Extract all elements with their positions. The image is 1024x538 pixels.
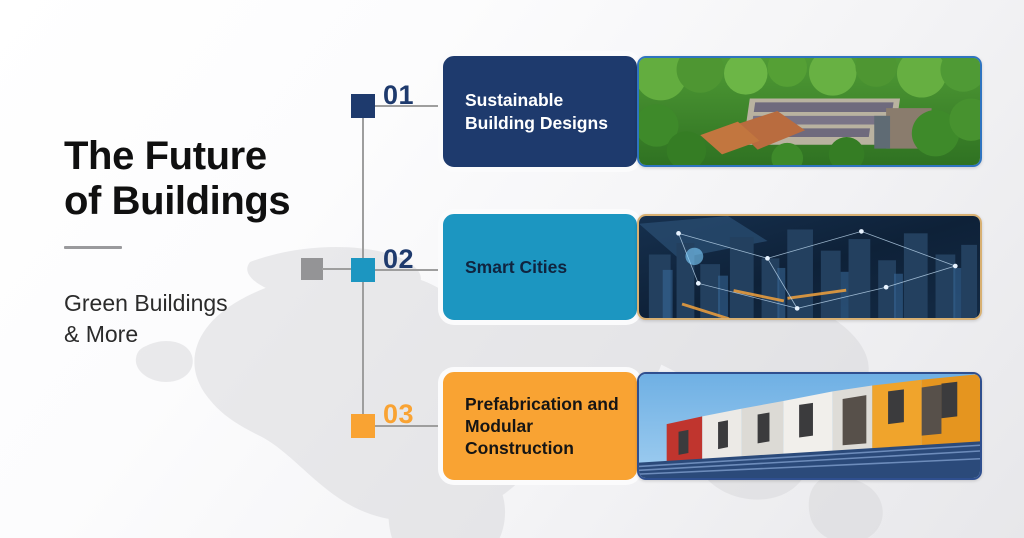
timeline-number-02: 02 [383,244,414,275]
title-divider [64,246,122,249]
timeline-photo-02 [637,214,982,320]
timeline-card-label-01: Sustainable Building Designs [445,89,635,133]
timeline-card-02[interactable]: Smart Cities [443,214,637,320]
timeline-card-label-02: Smart Cities [445,256,567,278]
timeline-number-03: 03 [383,399,414,430]
slide-subtitle: Green Buildings & More [64,288,364,350]
timeline-gray-connector [322,268,352,270]
title-block: The Future of Buildings [64,134,374,249]
page-title: The Future of Buildings [64,134,374,224]
timeline-marker-01 [351,94,375,118]
timeline-number-01: 01 [383,80,414,111]
timeline-marker-02 [351,258,375,282]
timeline-card-03[interactable]: Prefabrication and Modular Construction [443,372,637,480]
title-line-1: The Future [64,134,267,178]
slide-canvas: The Future of Buildings Green Buildings … [0,0,1024,538]
timeline-photo-01 [637,56,982,167]
timeline-card-01[interactable]: Sustainable Building Designs [443,56,637,167]
timeline-gray-marker [301,258,323,280]
timeline-marker-03 [351,414,375,438]
timeline-photo-03 [637,372,982,480]
title-line-2: of Buildings [64,179,290,223]
timeline-card-label-03: Prefabrication and Modular Construction [445,393,635,460]
